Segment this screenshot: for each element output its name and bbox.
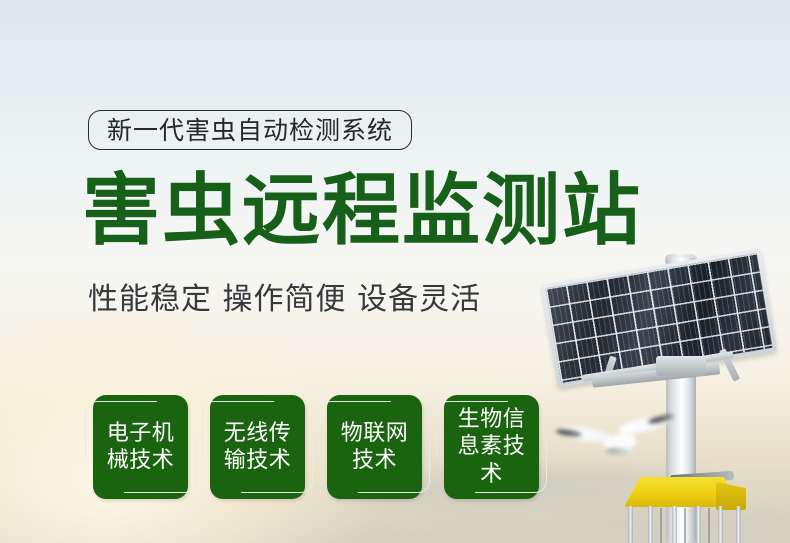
trap-rod bbox=[696, 506, 701, 543]
trap-rod bbox=[672, 506, 677, 543]
feature-badge[interactable]: 无线传输技术 bbox=[210, 395, 305, 499]
feature-badge-list: 电子机械技术 无线传输技术 物联网技术 生物信息素技术 bbox=[93, 395, 539, 499]
page-subtitle: 性能稳定 操作简便 设备灵活 bbox=[88, 285, 481, 315]
page-title: 害虫远程监测站 bbox=[82, 172, 642, 250]
feature-badge-label: 无线传输技术 bbox=[210, 395, 305, 499]
eyebrow-label: 新一代害虫自动检测系统 bbox=[107, 118, 393, 143]
feature-badge[interactable]: 物联网技术 bbox=[327, 395, 422, 499]
feature-badge-label: 物联网技术 bbox=[327, 395, 422, 499]
solar-monitoring-station bbox=[520, 230, 790, 543]
trap-rod bbox=[718, 506, 723, 543]
trap-rod bbox=[736, 506, 741, 543]
eyebrow-badge: 新一代害虫自动检测系统 bbox=[88, 110, 412, 150]
feature-badge-label: 电子机械技术 bbox=[93, 395, 188, 499]
feature-badge-label: 生物信息素技术 bbox=[444, 395, 539, 499]
trap-rod bbox=[660, 508, 662, 543]
trap-rod bbox=[648, 506, 653, 543]
trap-rod-cage bbox=[626, 506, 742, 543]
panel-mount-hub bbox=[656, 356, 706, 376]
feature-badge[interactable]: 生物信息素技术 bbox=[444, 395, 539, 499]
feature-badge[interactable]: 电子机械技术 bbox=[93, 395, 188, 499]
trap-rod bbox=[708, 508, 710, 543]
trap-rod bbox=[628, 506, 633, 543]
trap-rod bbox=[684, 508, 686, 543]
promo-banner: 新一代害虫自动检测系统 害虫远程监测站 性能稳定 操作简便 设备灵活 电子机械技… bbox=[0, 0, 790, 543]
